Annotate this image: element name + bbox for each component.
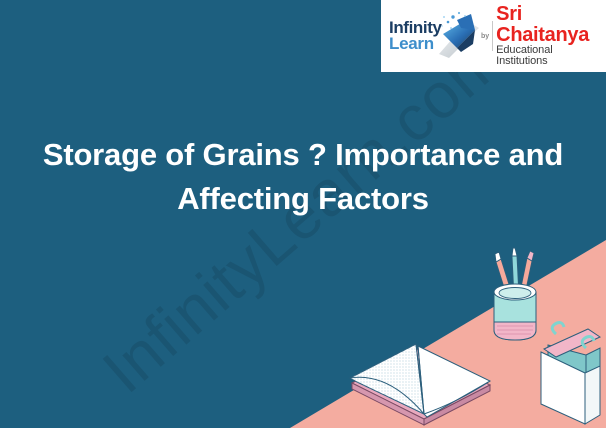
infinity-learn-logo: Infinity Learn [389, 8, 477, 64]
open-book-graphic [350, 344, 490, 425]
page-title: Storage of Grains ? Importance and Affec… [0, 133, 606, 221]
desk-calendar-graphic [541, 323, 600, 428]
sri-chaitanya-logo: Sri Chaitanya Educational Institutions [496, 4, 600, 67]
brand-logo-card: Infinity Learn by Sri Chaitanya Educatio… [381, 0, 606, 72]
brand-learn-text: Learn [389, 36, 442, 52]
pencil-cup-graphic [494, 248, 536, 340]
divider [492, 21, 493, 51]
pencil-2 [512, 248, 519, 297]
sri-chaitanya-subtitle: Educational Institutions [496, 45, 600, 67]
pencil-3 [519, 251, 534, 299]
pencil-1 [495, 252, 513, 300]
infinity-learn-wordmark: Infinity Learn [389, 20, 442, 51]
sri-chaitanya-name: Sri Chaitanya [496, 4, 600, 45]
promo-banner: InfinityLearn.com [0, 0, 606, 428]
